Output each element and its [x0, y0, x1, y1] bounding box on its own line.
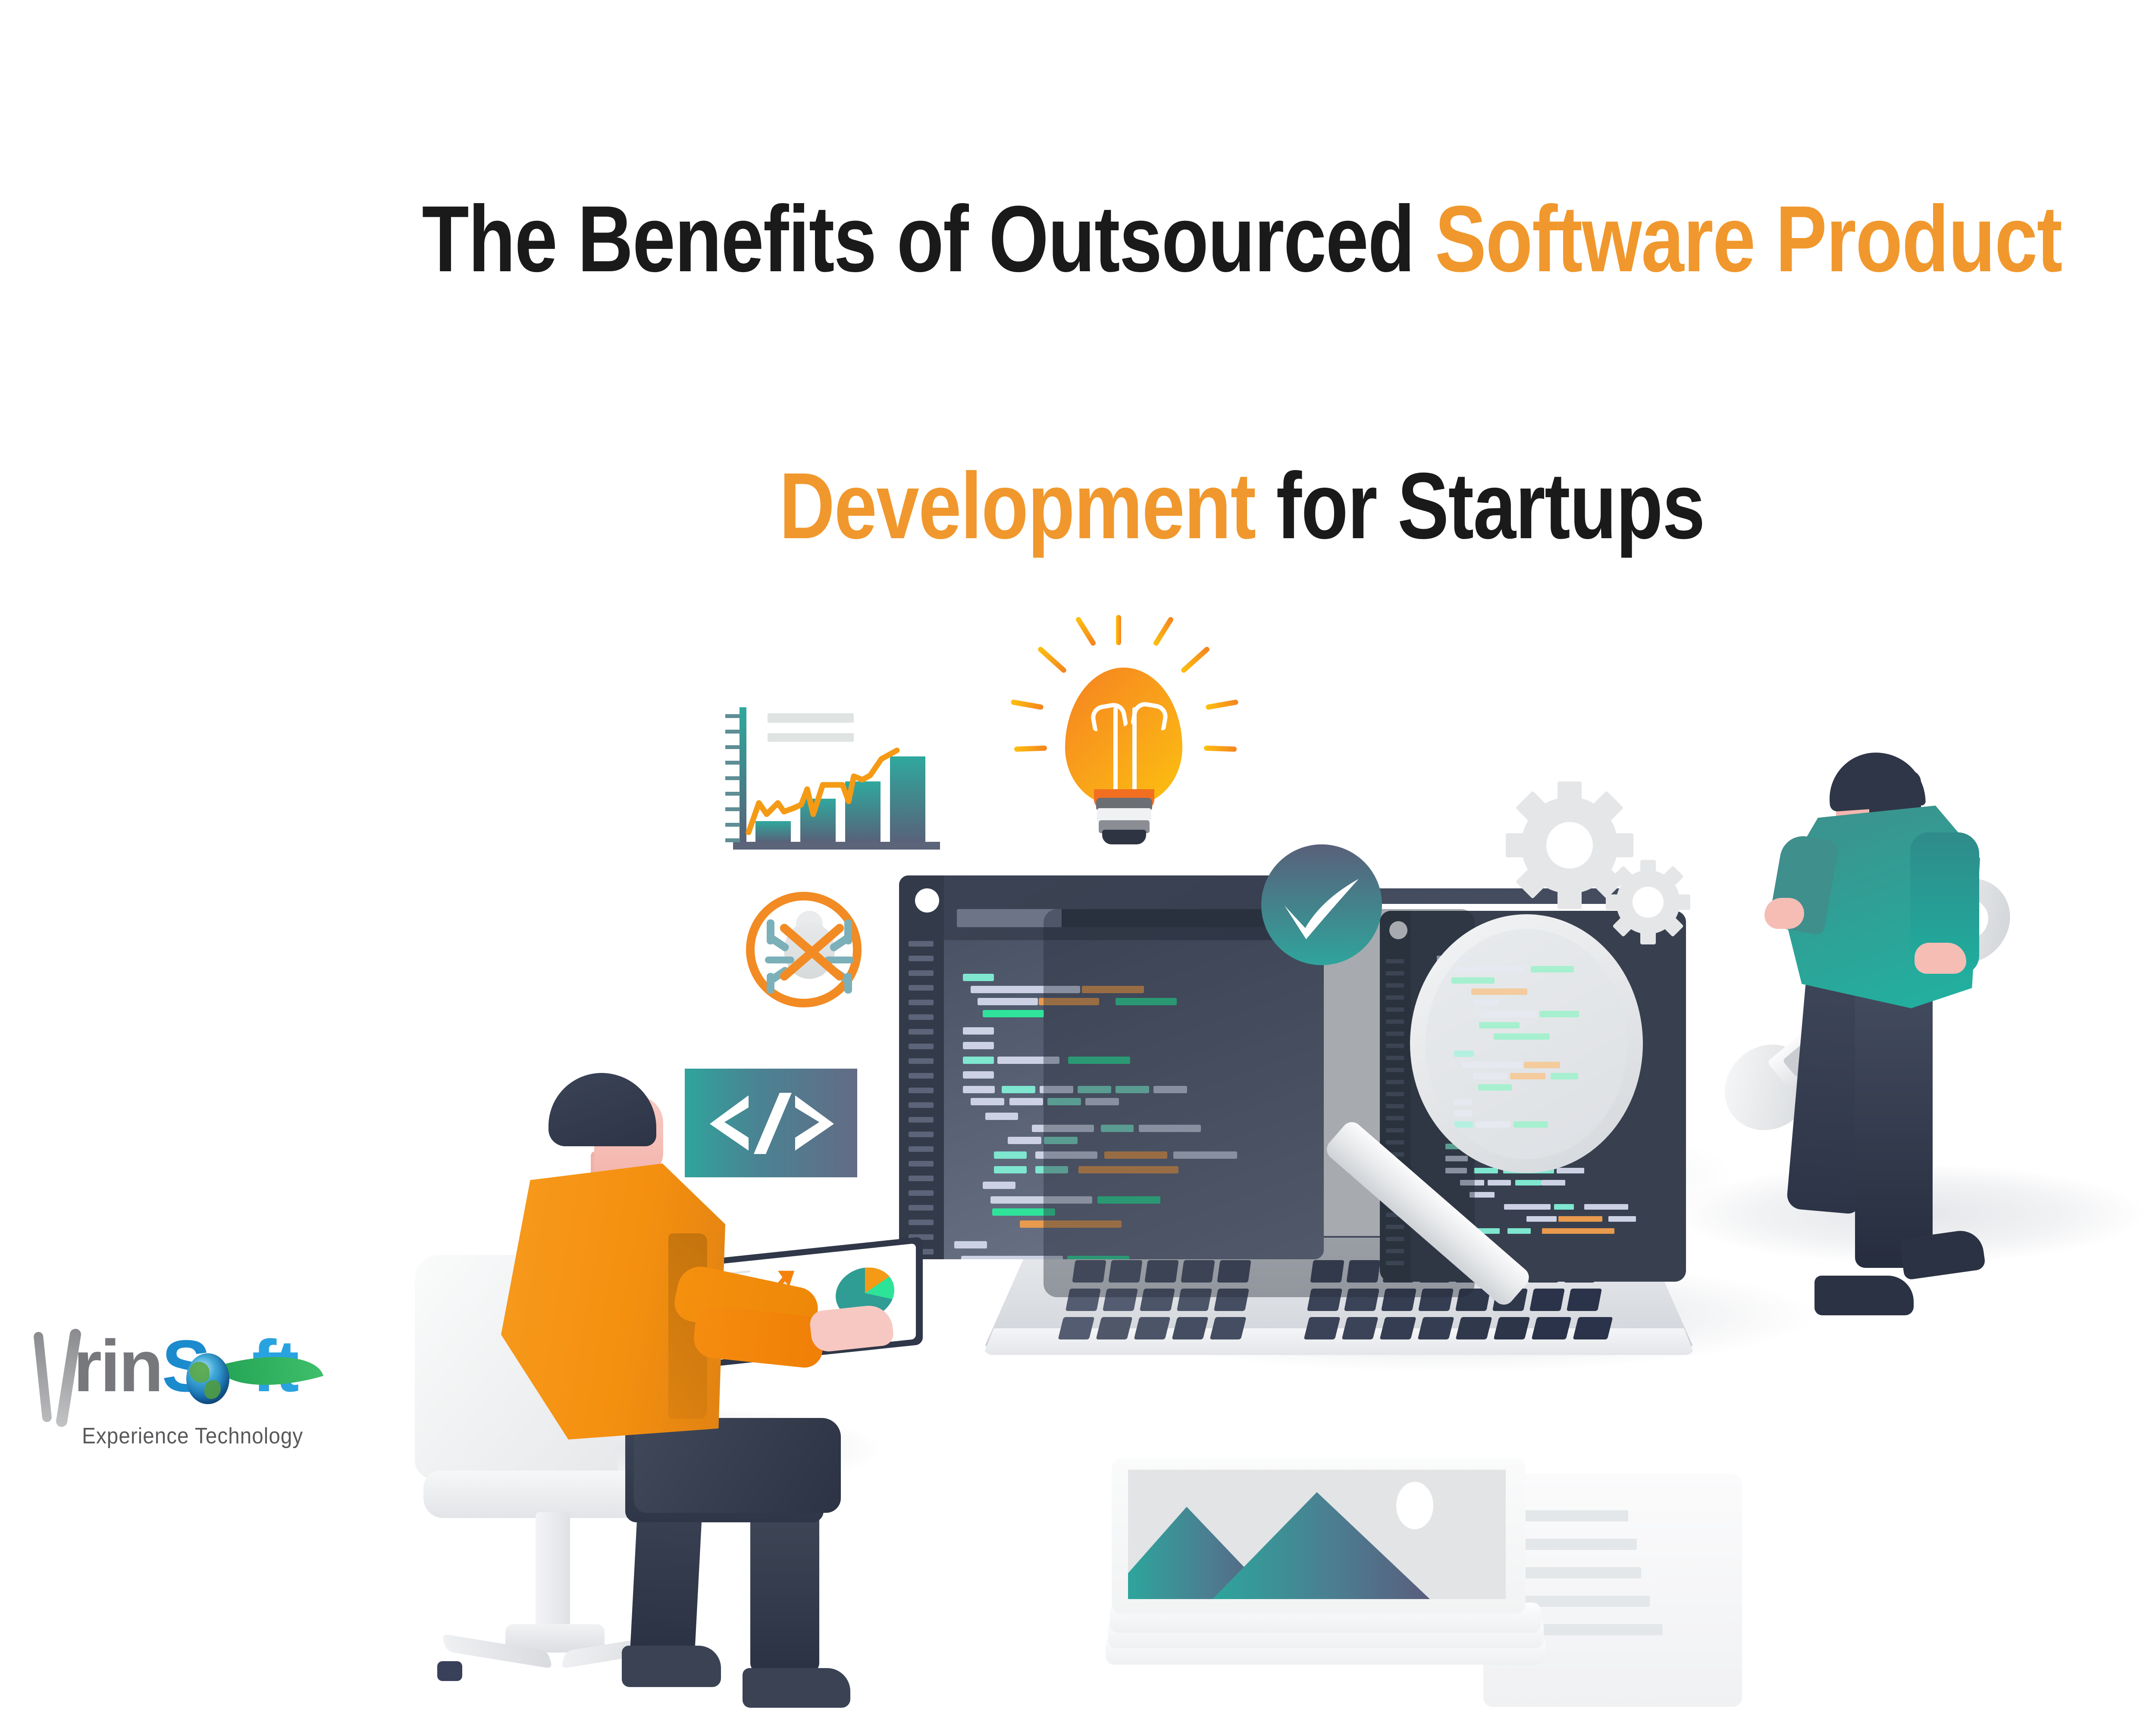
magnified-code-line — [1476, 1121, 1510, 1128]
key — [1172, 1317, 1209, 1339]
logo-text-rin: rin — [73, 1325, 162, 1407]
code-line — [971, 1098, 1004, 1105]
logo-v-stroke-left — [33, 1331, 52, 1422]
magnified-code-line — [1473, 1073, 1507, 1079]
sun-icon — [1396, 1482, 1433, 1529]
code-line — [963, 1027, 994, 1035]
light-ray — [1014, 746, 1047, 752]
magnified-code-line — [1531, 966, 1574, 972]
light-ray — [1204, 746, 1237, 752]
magnified-code-line — [1454, 1099, 1472, 1105]
code-line — [963, 1071, 994, 1079]
magnified-code-line — [1479, 1022, 1520, 1029]
brand-logo[interactable]: rinSoft Experience Technology — [26, 1320, 336, 1462]
developer-hand — [809, 1303, 895, 1353]
developer-seated — [410, 1052, 949, 1725]
bug-leg — [765, 957, 794, 963]
magnified-code-line — [1551, 1073, 1578, 1079]
code-line — [963, 974, 994, 981]
engineer-hand-right — [1915, 943, 1966, 974]
developer-hair — [548, 1073, 656, 1146]
key — [1134, 1317, 1171, 1339]
bulb-base-contact — [1102, 830, 1146, 844]
key — [1304, 1317, 1341, 1339]
magnified-code-line — [1454, 1110, 1472, 1117]
magnified-code-line — [1539, 1011, 1579, 1017]
magnified-code-line — [1449, 966, 1524, 972]
magnified-code-line — [1454, 1121, 1473, 1128]
light-ray — [1116, 615, 1121, 645]
light-ray — [1153, 616, 1174, 647]
magnified-code-line — [1479, 1011, 1537, 1017]
illustration-scene — [0, 276, 2156, 1490]
magnified-code-line — [1510, 1073, 1545, 1079]
gear-tooth — [1608, 833, 1633, 857]
bar-chart-widget — [716, 699, 957, 871]
key — [1058, 1317, 1095, 1339]
light-ray — [1206, 699, 1239, 710]
code-line — [963, 1042, 994, 1049]
chart-trend-line — [733, 707, 949, 845]
magnified-code-line — [1475, 1000, 1499, 1006]
code-line — [983, 1010, 1044, 1017]
magnified-code-line — [1443, 955, 1468, 961]
developer-shoe-front — [743, 1668, 850, 1708]
code-line — [1009, 1098, 1043, 1105]
engineer-leg-front — [1855, 970, 1933, 1268]
magnified-code-line — [1451, 977, 1495, 984]
magnified-code-line — [1494, 1033, 1550, 1040]
magnifier — [1341, 897, 1686, 1337]
code-line — [1002, 1086, 1035, 1093]
code-line — [1008, 1137, 1041, 1144]
code-line — [963, 1057, 994, 1064]
lightbulb-icon — [1005, 604, 1246, 880]
bug-free-icon — [733, 888, 884, 1018]
engineer-standing — [1699, 729, 2087, 1488]
engineer-hand-left — [1764, 898, 1804, 929]
code-line — [963, 1086, 995, 1093]
light-ray — [1075, 616, 1097, 647]
magnified-code-line — [1471, 988, 1527, 995]
magnified-code-line — [1462, 1062, 1522, 1068]
code-line — [978, 998, 1038, 1005]
code-line — [983, 1182, 1015, 1189]
code-line — [985, 1113, 1018, 1120]
gear-tooth — [1506, 833, 1531, 857]
magnified-code-line — [1514, 1121, 1548, 1128]
image-thumbnail — [1128, 1470, 1506, 1599]
magnified-code-line — [1454, 1051, 1474, 1057]
light-ray — [1180, 646, 1210, 674]
code-line — [994, 1166, 1027, 1173]
code-line — [954, 1241, 987, 1248]
bulb-glass — [1065, 668, 1182, 806]
mountain-icon — [1128, 1470, 1506, 1599]
light-ray — [1037, 646, 1067, 674]
light-ray — [1011, 699, 1044, 710]
magnified-code-line — [1524, 1062, 1560, 1068]
engineer-shoe-front — [1814, 1276, 1914, 1315]
logo-tagline: Experience Technology — [82, 1423, 303, 1449]
developer-shoe-back — [622, 1646, 721, 1687]
key — [1210, 1317, 1247, 1339]
gear-tooth — [1557, 781, 1582, 806]
gear-hole — [1546, 822, 1593, 869]
magnifier-lens — [1426, 929, 1627, 1159]
magnified-code-line — [1478, 1084, 1512, 1091]
logo-globe-icon — [186, 1353, 229, 1404]
key — [1096, 1317, 1133, 1339]
code-line — [994, 1151, 1027, 1159]
document-stack — [1104, 1449, 1785, 1725]
window-dot — [915, 888, 939, 913]
gear-tooth — [1640, 860, 1656, 877]
